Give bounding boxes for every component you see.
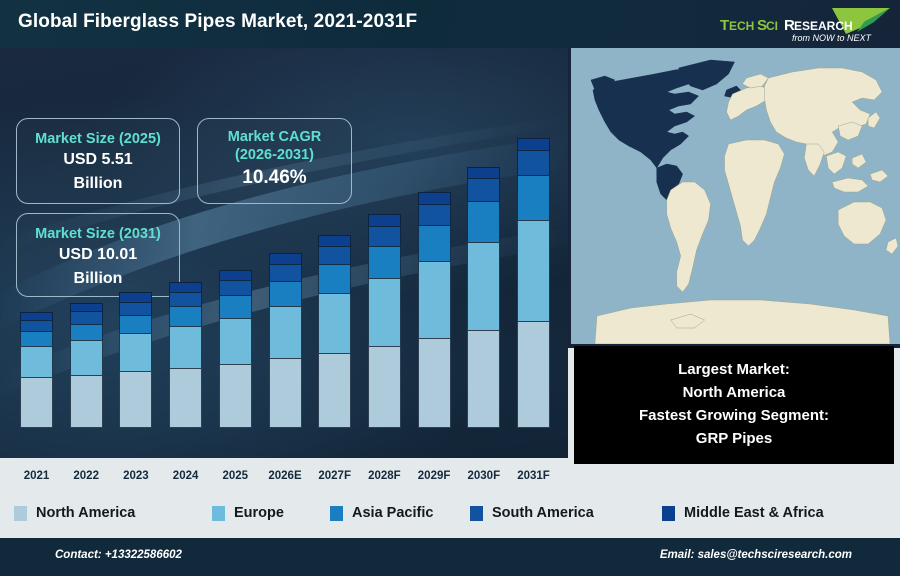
bar-segment-north-america [318,353,351,428]
bar-segment-asia-pacific [368,246,401,279]
bar-segment-europe [119,333,152,372]
page-title: Global Fiberglass Pipes Market, 2021-203… [18,11,417,33]
legend-item-north-america[interactable]: North America [14,505,135,521]
largest-market-value: North America [683,382,786,405]
bar-2026E [269,254,302,428]
bar-2021 [20,313,53,428]
bar-segment-europe [70,340,103,376]
bar-segment-asia-pacific [219,295,252,318]
bar-segment-north-america [418,338,451,428]
bar-segment-north-america [169,368,202,428]
x-axis-label-2031F: 2031F [502,470,566,482]
bar-2030F [467,168,500,428]
bar-segment-north-america [467,330,500,428]
legend-label: Europe [234,505,284,521]
legend-label: Middle East & Africa [684,505,824,521]
bar-segment-europe [418,261,451,339]
bar-segment-europe [318,293,351,354]
legend-item-asia-pacific[interactable]: Asia Pacific [330,505,433,521]
world-map-panel [568,48,900,348]
bar-segment-south-america [467,178,500,202]
legend-swatch-icon [14,506,27,521]
bar-segment-south-america [169,292,202,307]
bar-segment-north-america [20,377,53,428]
svg-text:ESEARCH: ESEARCH [794,19,853,33]
largest-market-label: Largest Market: [678,359,790,382]
bar-segment-asia-pacific [418,225,451,262]
legend-item-europe[interactable]: Europe [212,505,284,521]
legend-label: South America [492,505,594,521]
market-highlights-box: Largest Market: North America Fastest Gr… [574,346,894,464]
bar-segment-south-america [119,302,152,316]
fastest-segment-label: Fastest Growing Segment: [639,405,829,428]
bar-2022 [70,304,103,428]
footer-bar: Contact: +13322586602 Email: sales@techs… [0,538,900,576]
bar-2025 [219,271,252,428]
header-bar: Global Fiberglass Pipes Market, 2021-203… [0,0,900,48]
bar-segment-south-america [318,246,351,265]
bar-segment-europe [219,318,252,365]
bar-segment-europe [20,346,53,379]
bar-segment-asia-pacific [517,175,550,222]
legend-item-south-america[interactable]: South America [470,505,594,521]
footer-email: Email: sales@techsciresearch.com [660,549,852,561]
footer-contact: Contact: +13322586602 [55,549,182,561]
bar-segment-europe [269,306,302,359]
legend-swatch-icon [662,506,675,521]
svg-text:CI: CI [766,19,778,33]
bar-segment-europe [467,242,500,331]
legend-label: North America [36,505,135,521]
bar-2028F [368,215,401,428]
bar-2029F [418,193,451,428]
svg-text:T: T [720,17,729,34]
bar-2027F [318,236,351,428]
chart-panel: Market Size (2025) USD 5.51 Billion Mark… [0,48,568,488]
techsci-research-logo: T ECH S CI R ESEARCH from NOW to NEXT [714,4,894,46]
bar-segment-europe [368,278,401,347]
bar-segment-south-america [418,204,451,226]
world-map [571,48,900,344]
bar-segment-asia-pacific [70,324,103,341]
bar-2031F [517,139,550,428]
bar-segment-asia-pacific [169,306,202,327]
bar-segment-europe [169,326,202,369]
legend-item-middle-east-africa[interactable]: Middle East & Africa [662,505,824,521]
bar-2023 [119,293,152,428]
bars-container [0,106,568,458]
bar-segment-south-america [517,150,550,175]
legend-swatch-icon [212,506,225,521]
bar-segment-north-america [70,375,103,428]
svg-text:from NOW to NEXT: from NOW to NEXT [792,33,873,43]
bar-segment-asia-pacific [119,315,152,334]
bar-segment-asia-pacific [20,331,53,347]
legend-swatch-icon [470,506,483,521]
infographic-poster: Global Fiberglass Pipes Market, 2021-203… [0,0,900,576]
chart-legend: North AmericaEuropeAsia PacificSouth Ame… [0,488,900,538]
bar-segment-asia-pacific [318,264,351,294]
bar-segment-south-america [368,226,401,247]
x-axis-labels: 202120222023202420252026E2027F2028F2029F… [0,458,568,488]
stacked-bar-chart [0,106,568,458]
bar-segment-north-america [219,364,252,428]
svg-text:ECH: ECH [729,19,754,33]
bar-2024 [169,283,202,428]
bar-segment-south-america [269,264,302,282]
bar-segment-north-america [119,371,152,428]
legend-label: Asia Pacific [352,505,433,521]
bar-segment-south-america [219,280,252,296]
bar-segment-asia-pacific [269,281,302,307]
fastest-segment-value: GRP Pipes [696,428,772,451]
legend-swatch-icon [330,506,343,521]
bar-segment-north-america [368,346,401,428]
bar-segment-north-america [517,321,550,428]
bar-segment-europe [517,220,550,322]
bar-segment-asia-pacific [467,201,500,243]
bar-segment-north-america [269,358,302,428]
